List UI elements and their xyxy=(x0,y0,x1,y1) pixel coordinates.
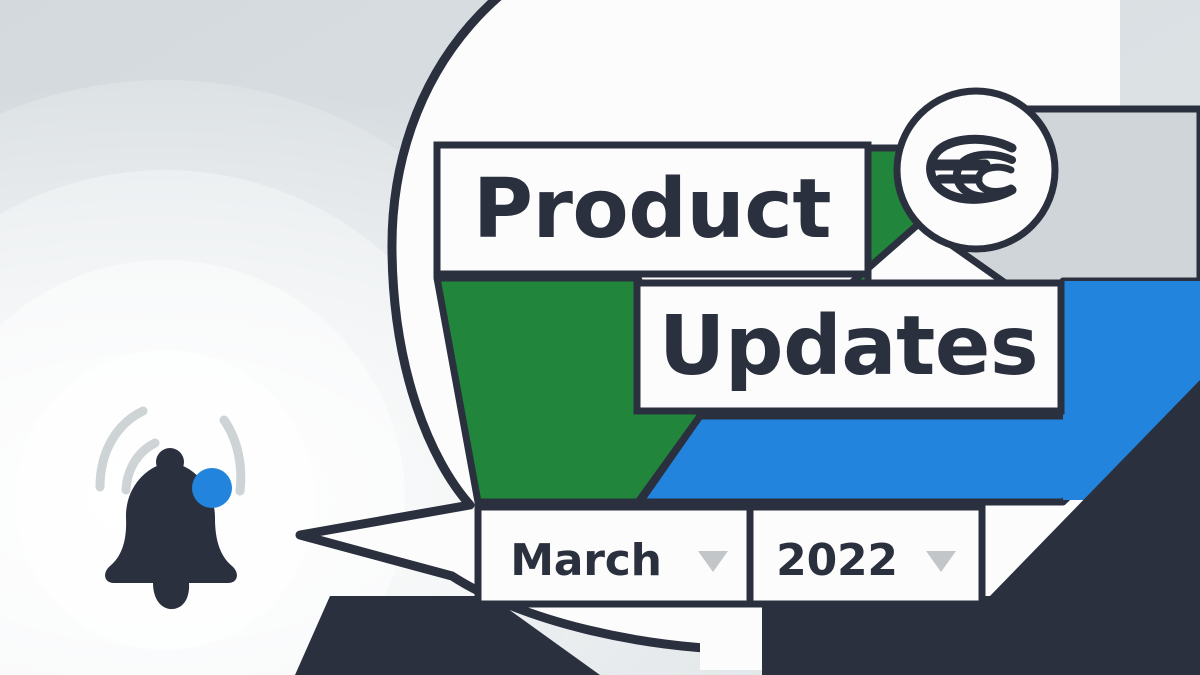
banner-artboard xyxy=(0,0,1200,675)
product-label-box xyxy=(437,145,868,274)
bell-top-knob xyxy=(156,448,184,476)
updates-label-box xyxy=(637,283,1061,411)
notification-dot xyxy=(192,468,232,508)
brand-logo-badge[interactable] xyxy=(897,91,1055,249)
product-updates-banner: Product Updates March 2022 xyxy=(0,0,1200,675)
